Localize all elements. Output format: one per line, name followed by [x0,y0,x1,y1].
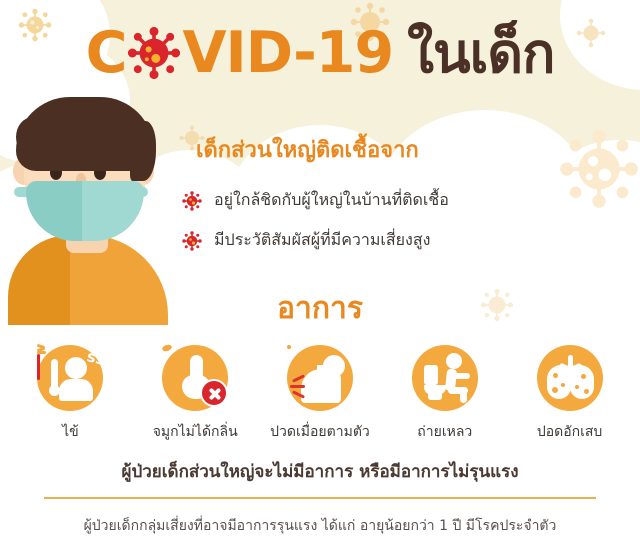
decorative-virus-icon-right-large [560,130,638,208]
face-mask-shadow [26,181,82,241]
virus-bullet-icon [182,231,202,251]
symptom-item-body-ache: ปวดเมื่อยตามตัว [260,345,380,443]
symptom-label: ปวดเมื่อยตามตัว [270,421,370,443]
infographic-poster: C VI [0,0,640,549]
infection-source-heading: เด็กส่วนใหญ่ติดเชื้อจาก [196,132,419,167]
symptom-label: ปอดอักเสบ [537,421,603,443]
symptom-label: ถ่ายเหลว [417,421,472,443]
title-rest: VID-19 [182,25,393,82]
divider [44,497,596,499]
list-item-label: อยู่ใกล้ชิดกับผู้ใหญ่ในบ้านที่ติดเชื้อ [214,188,449,213]
boy-hair-side [130,121,156,181]
boy-hair-tuft [16,117,50,157]
symptoms-row: ss ไข้ จมูกไม่ได้กลิ่น ปวด [0,345,640,443]
body-ache-icon [287,345,353,411]
symptom-item-pneumonia: ปอดอักเสบ [510,345,630,443]
list-item: มีประวัติสัมผัสผู้ที่มีความเสี่ยงสูง [182,228,430,253]
nose-no-smell-icon [162,345,228,411]
symptom-label: จมูกไม่ได้กลิ่น [153,421,238,443]
footnote-text: ผู้ป่วยเด็กกลุ่มเสี่ยงที่อาจมีอาการรุนแร… [0,515,640,537]
symptom-item-diarrhea: ถ่ายเหลว [385,345,505,443]
diarrhea-toilet-icon [412,345,478,411]
symptom-label: ไข้ [62,421,79,443]
fever-thermometer-icon: ss [37,345,103,411]
symptoms-heading: อาการ [0,285,640,332]
list-item: อยู่ใกล้ชิดกับผู้ใหญ่ในบ้านที่ติดเชื้อ [182,188,449,213]
title-thai: ในเด็ก [407,26,554,81]
symptom-item-fever: ss ไข้ [10,345,130,443]
close-icon [200,379,228,407]
covid-virus-icon [127,26,181,80]
lungs-pneumonia-icon [537,345,603,411]
title-letter-c: C [86,25,127,82]
virus-bullet-icon [182,191,202,211]
list-item-label: มีประวัติสัมผัสผู้ที่มีความเสี่ยงสูง [214,228,430,253]
page-title: C VI [0,18,640,88]
symptom-item-no-smell: จมูกไม่ได้กลิ่น [135,345,255,443]
main-statement: ผู้ป่วยเด็กส่วนใหญ่จะไม่มีอาการ หรือมีอา… [0,458,640,485]
boy-wearing-mask-illustration [2,95,177,290]
